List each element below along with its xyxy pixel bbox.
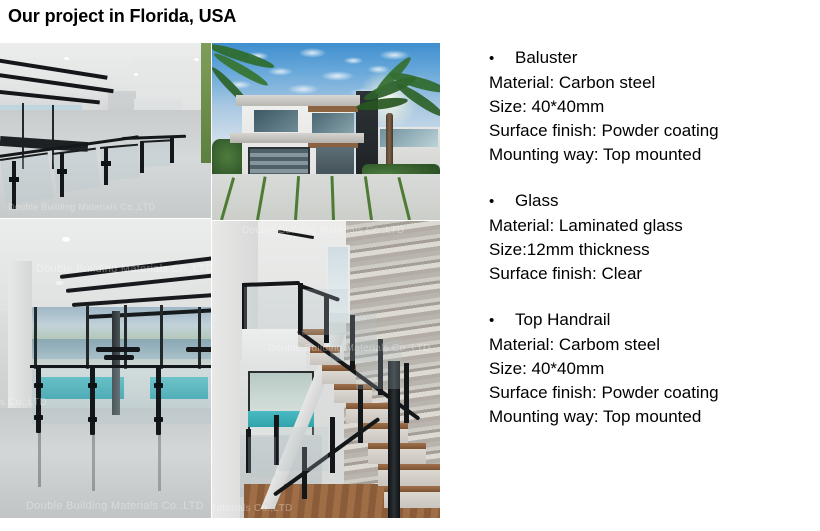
page-title: Our project in Florida, USA — [8, 5, 236, 27]
spec-heading-top-handrail: • Top Handrail — [489, 308, 809, 333]
spec-line-material: Material: Carbom steel — [489, 333, 809, 357]
spec-heading-baluster: • Baluster — [489, 46, 809, 71]
project-photo-gallery: Double Building Materials Co.,LTD — [0, 43, 440, 518]
bullet-icon: • — [489, 47, 515, 71]
photo-staircase-wood-treads: Double Building Materials Co.,LTD Double… — [212, 221, 440, 518]
specifications-list: • Baluster Material: Carbon steel Size: … — [489, 46, 809, 451]
spec-line-surface-finish: Surface finish: Powder coating — [489, 119, 809, 143]
slide-root: Our project in Florida, USA — [0, 0, 820, 531]
spec-heading-label: Baluster — [515, 46, 577, 70]
spec-line-size: Size: 40*40mm — [489, 95, 809, 119]
spec-block-top-handrail: • Top Handrail Material: Carbom steel Si… — [489, 308, 809, 429]
spec-heading-glass: • Glass — [489, 189, 809, 214]
bullet-icon: • — [489, 190, 515, 214]
spec-line-surface-finish: Surface finish: Clear — [489, 262, 809, 286]
spec-line-material: Material: Carbon steel — [489, 71, 809, 95]
spec-line-surface-finish: Surface finish: Powder coating — [489, 381, 809, 405]
spec-line-size: Size:12mm thickness — [489, 238, 809, 262]
bullet-icon: • — [489, 309, 515, 333]
photo-great-room-pool-view: Double Building Materials Co.,LTD s Co.,… — [0, 219, 211, 518]
spec-block-glass: • Glass Material: Laminated glass Size:1… — [489, 189, 809, 286]
spec-line-size: Size: 40*40mm — [489, 357, 809, 381]
photo-modern-house-exterior — [212, 43, 440, 220]
spec-heading-label: Top Handrail — [515, 308, 610, 332]
spec-line-mounting-way: Mounting way: Top mounted — [489, 143, 809, 167]
spec-line-mounting-way: Mounting way: Top mounted — [489, 405, 809, 429]
photo-interior-corridor-glass-railing: Double Building Materials Co.,LTD — [0, 43, 211, 218]
spec-block-baluster: • Baluster Material: Carbon steel Size: … — [489, 46, 809, 167]
spec-line-material: Material: Laminated glass — [489, 214, 809, 238]
spec-heading-label: Glass — [515, 189, 558, 213]
